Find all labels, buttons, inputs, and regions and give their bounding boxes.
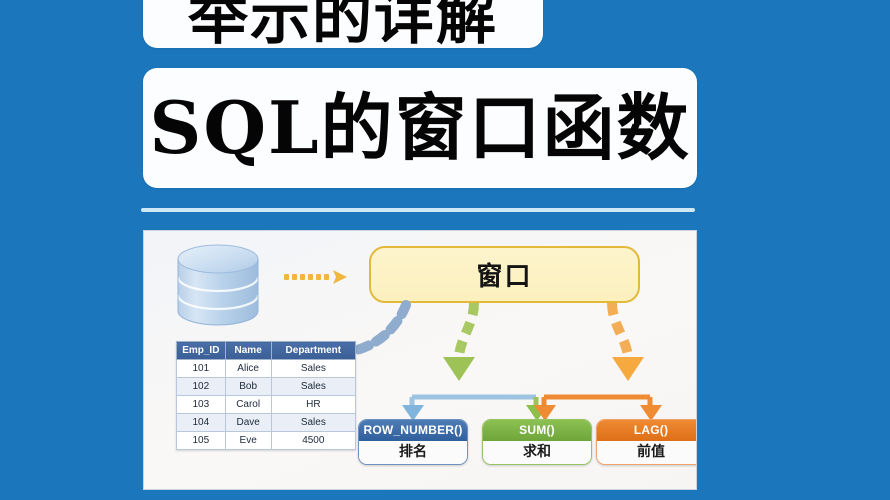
table-row: 101 Alice Sales xyxy=(177,360,356,378)
divider-rule xyxy=(141,208,695,212)
table-header-name: Name xyxy=(225,342,271,360)
cell-emp-id: 102 xyxy=(177,378,226,396)
cell-name: Alice xyxy=(225,360,271,378)
window-to-green-arrow xyxy=(443,303,475,381)
cell-department: Sales xyxy=(271,414,355,432)
cell-name: Bob xyxy=(225,378,271,396)
function-meaning-sum: 求和 xyxy=(483,441,591,464)
table-row: 103 Carol HR xyxy=(177,396,356,414)
poster-root: 举示的详解 SQL的窗口函数 xyxy=(0,0,890,500)
title-line1-text: 举示的详解 xyxy=(188,0,498,48)
cell-department: 4500 xyxy=(271,432,355,450)
diagram-panel: 窗口 xyxy=(143,230,697,490)
cell-department: Sales xyxy=(271,378,355,396)
cell-name: Carol xyxy=(225,396,271,414)
table-header-row: Emp_ID Name Department xyxy=(177,342,356,360)
title-line2-text: SQL的窗口函数 xyxy=(149,89,690,167)
cell-emp-id: 101 xyxy=(177,360,226,378)
table-row: 104 Dave Sales xyxy=(177,414,356,432)
cell-department: HR xyxy=(271,396,355,414)
cell-emp-id: 103 xyxy=(177,396,226,414)
function-card-sum[interactable]: SUM() 求和 xyxy=(482,419,592,465)
function-meaning-lag: 前值 xyxy=(597,441,697,464)
table-header-department: Department xyxy=(271,342,355,360)
cell-name: Dave xyxy=(225,414,271,432)
function-card-row-number[interactable]: ROW_NUMBER() 排名 xyxy=(358,419,468,465)
table-header-emp-id: Emp_ID xyxy=(177,342,226,360)
function-card-lag[interactable]: LAG() 前值 xyxy=(596,419,697,465)
left-branch-bracket xyxy=(402,397,548,421)
cell-emp-id: 104 xyxy=(177,414,226,432)
function-name-row-number: ROW_NUMBER() xyxy=(359,420,467,441)
function-meaning-row-number: 排名 xyxy=(359,441,467,464)
cell-emp-id: 105 xyxy=(177,432,226,450)
table-row: 105 Eve 4500 xyxy=(177,432,356,450)
title-box-line1: 举示的详解 xyxy=(143,0,543,48)
cell-name: Eve xyxy=(225,432,271,450)
function-name-lag: LAG() xyxy=(597,420,697,441)
function-name-sum: SUM() xyxy=(483,420,591,441)
right-branch-bracket xyxy=(534,397,662,421)
title-box-line2: SQL的窗口函数 xyxy=(143,68,697,188)
window-to-orange-arrow xyxy=(612,303,644,381)
employee-table: Emp_ID Name Department 101 Alice Sales 1… xyxy=(176,341,356,450)
cell-department: Sales xyxy=(271,360,355,378)
table-row: 102 Bob Sales xyxy=(177,378,356,396)
